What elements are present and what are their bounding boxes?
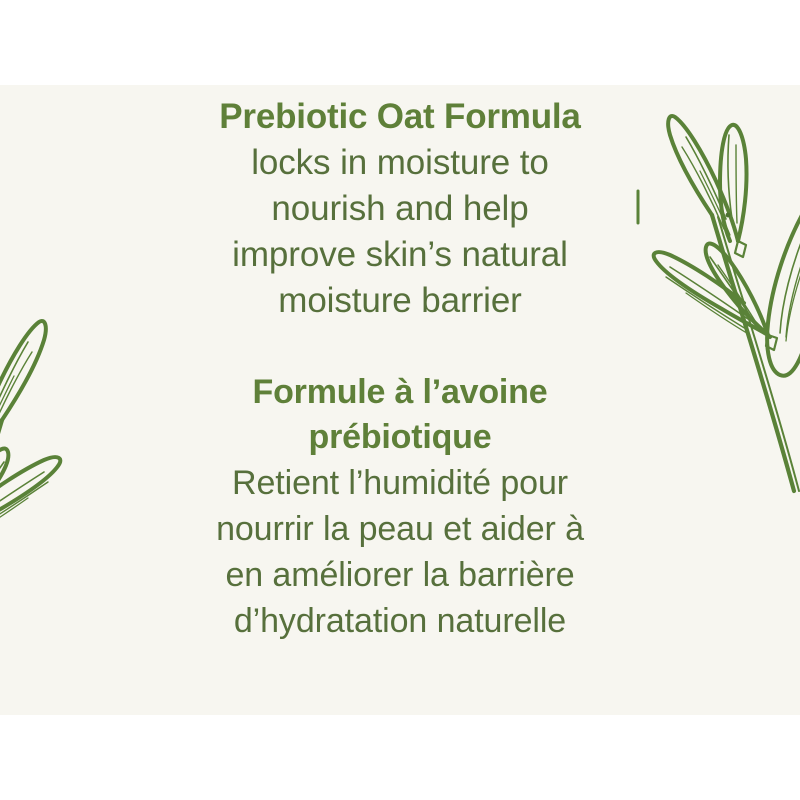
cream-background-panel: Prebiotic Oat Formula locks in moisture … [0, 85, 800, 715]
infographic-panel: Prebiotic Oat Formula locks in moisture … [0, 0, 800, 800]
french-headline-line-2: prébiotique [120, 415, 680, 460]
english-body-line-3: improve skin’s natural [120, 232, 680, 278]
french-body-line-1: Retient l’humidité pour [120, 460, 680, 506]
english-headline: Prebiotic Oat Formula [120, 94, 680, 140]
english-claim-block: Prebiotic Oat Formula locks in moisture … [120, 85, 680, 324]
english-body-line-1: locks in moisture to [120, 140, 680, 186]
claims-content: Prebiotic Oat Formula locks in moisture … [0, 85, 800, 644]
french-body-line-3: en améliorer la barrière [120, 552, 680, 598]
french-body-line-4: d’hydratation naturelle [120, 598, 680, 644]
french-claim-block: Formule à l’avoine prébiotique Retient l… [120, 324, 680, 644]
english-body-line-2: nourish and help [120, 186, 680, 232]
french-body-line-2: nourrir la peau et aider à [120, 506, 680, 552]
english-body-line-4: moisture barrier [120, 278, 680, 324]
french-headline-line-1: Formule à l’avoine [120, 370, 680, 415]
